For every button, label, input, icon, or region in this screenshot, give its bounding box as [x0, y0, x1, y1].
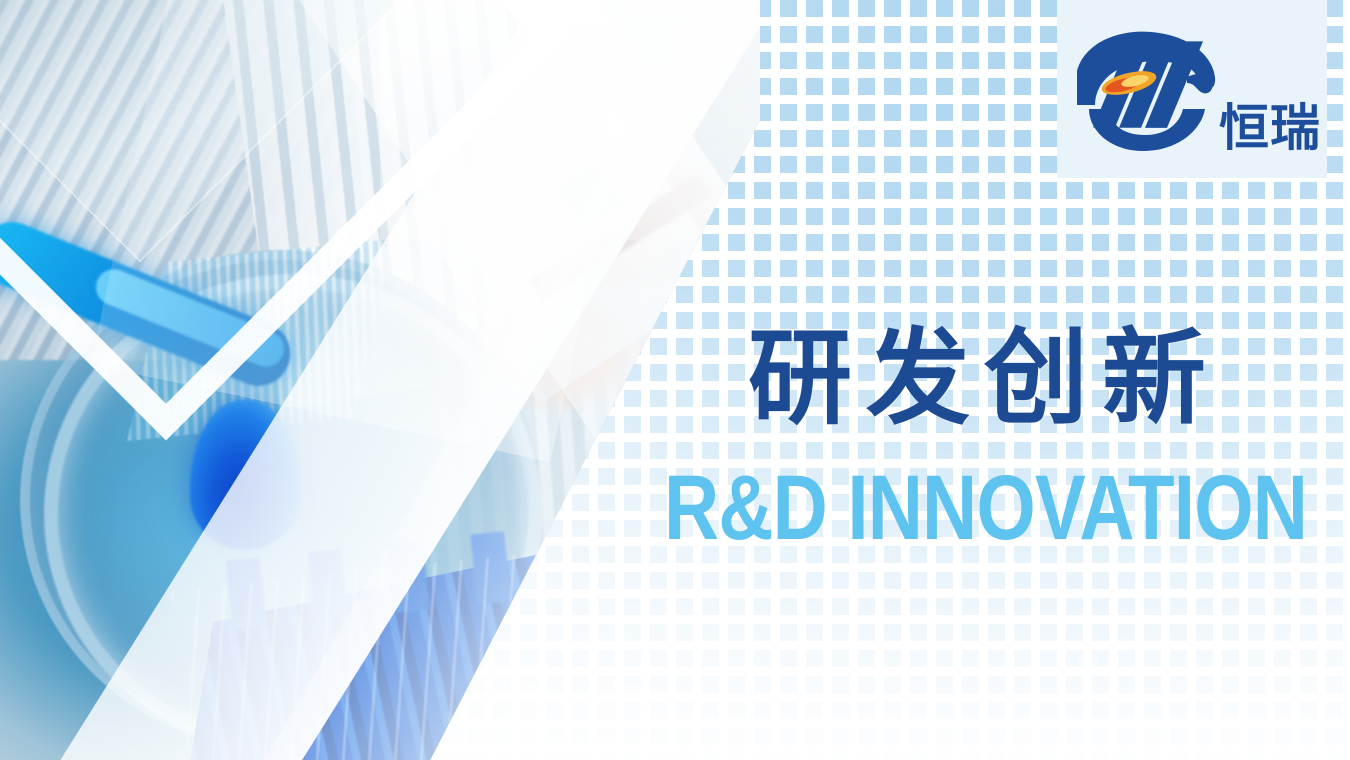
blue-liquid-drop	[190, 400, 300, 550]
logo-company-name-cn: 恒瑞	[1219, 103, 1321, 153]
hengrui-logo-plate[interactable]: 恒瑞	[1057, 0, 1327, 178]
headline-block: 研发创新	[748, 326, 1348, 430]
headline-chinese: 研发创新	[748, 326, 1348, 430]
hengrui-hr-monogram-icon	[1067, 25, 1217, 155]
logo-inner: 恒瑞	[1067, 19, 1317, 159]
headline-english: R&D INNOVATION	[664, 462, 1307, 554]
rd-innovation-banner: 恒瑞 研发创新 R&D INNOVATION	[0, 0, 1350, 760]
